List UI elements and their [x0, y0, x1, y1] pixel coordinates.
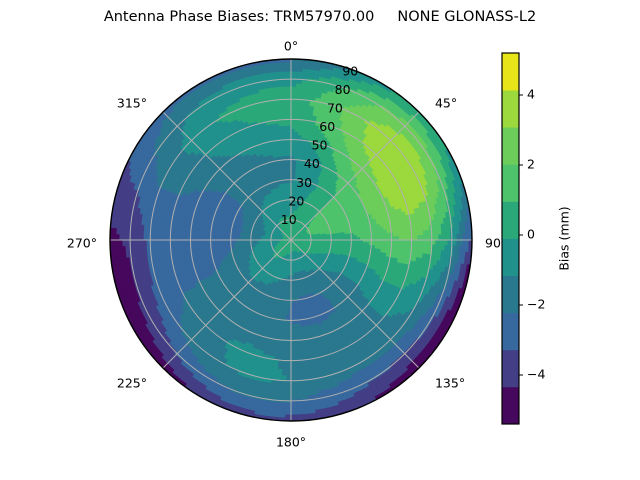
radial-tick-label-10: 10 — [281, 212, 297, 227]
colorbar-band — [502, 164, 519, 202]
radial-tick-label-70: 70 — [327, 100, 343, 115]
colorbar-tick-label: −2 — [527, 297, 545, 312]
polar-grid-layer — [110, 59, 472, 421]
theta-tick-label-135: 135° — [435, 375, 465, 390]
radial-tick-label-60: 60 — [319, 119, 335, 134]
colorbar-band — [502, 313, 519, 351]
theta-tick-label-180: 180° — [276, 435, 306, 450]
colorbar-band — [502, 276, 519, 314]
radial-tick-label-40: 40 — [304, 156, 320, 171]
colorbar-band — [502, 127, 519, 165]
theta-tick-label-225: 225° — [117, 375, 147, 390]
theta-tick-label-270: 270° — [67, 236, 97, 251]
radial-tick-label-90: 90 — [342, 63, 358, 78]
colorbar-tick-label: −4 — [527, 367, 545, 382]
colorbar-band — [502, 239, 519, 277]
colorbar-band — [502, 201, 519, 239]
theta-tick-label-0: 0° — [284, 39, 298, 54]
radial-tick-label-80: 80 — [335, 82, 351, 97]
matplotlib-figure: Antenna Phase Biases: TRM57970.00 NONE G… — [0, 0, 640, 480]
colorbar-tick-label: 4 — [527, 87, 535, 102]
colorbar-band — [502, 53, 519, 91]
theta-tick-label-315: 315° — [117, 96, 147, 111]
radial-tick-label-50: 50 — [312, 138, 328, 153]
polar-contour-plot: 0°45°90135°180°225°270°315° 102030405060… — [0, 0, 640, 480]
colorbar-tick-label: 2 — [527, 157, 535, 172]
theta-tick-label-45: 45° — [435, 96, 457, 111]
radial-tick-label-20: 20 — [288, 193, 304, 208]
theta-tick-label-90: 90 — [485, 236, 501, 251]
colorbar-band — [502, 90, 519, 128]
colorbar: −4−2024Bias (mm) — [502, 53, 572, 424]
colorbar-tick-label: 0 — [527, 227, 535, 242]
radial-tick-label-30: 30 — [296, 175, 312, 190]
colorbar-band — [502, 350, 519, 388]
colorbar-axis-label: Bias (mm) — [557, 206, 572, 270]
colorbar-band — [502, 387, 519, 425]
